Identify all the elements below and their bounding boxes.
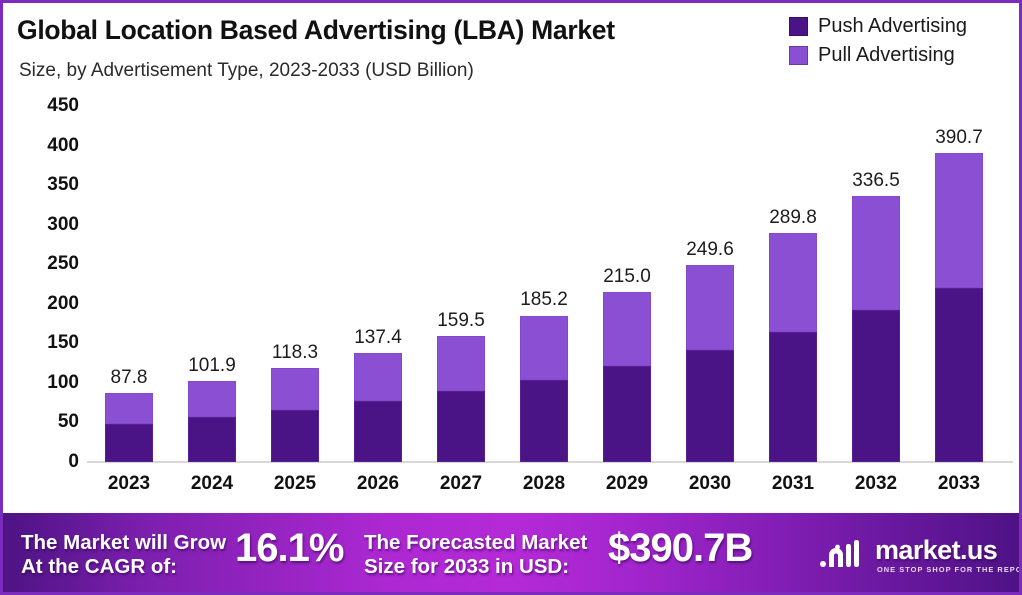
bar-value-label: 87.8 [89,367,169,389]
x-axis-tick: 2028 [504,473,584,495]
bar-segment-pull[interactable] [686,265,734,351]
x-axis-tick: 2031 [753,473,833,495]
page-title: Global Location Based Advertising (LBA) … [17,15,615,46]
x-axis-tick: 2033 [919,473,999,495]
bar-group[interactable] [852,196,900,462]
bar-segment-push[interactable] [520,380,568,462]
bar-segment-push[interactable] [935,288,983,462]
y-axis-tick: 50 [58,411,79,433]
y-axis-tick: 0 [68,451,79,473]
bar-segment-push[interactable] [354,401,402,462]
bar-segment-pull[interactable] [520,316,568,380]
bar-segment-pull[interactable] [852,196,900,310]
forecast-label-line1: The Forecasted Market [364,531,587,554]
logo-name: market.us [875,535,997,566]
x-axis-tick: 2032 [836,473,916,495]
y-axis-tick: 350 [47,174,79,196]
y-axis-tick: 250 [47,253,79,275]
bar-segment-push[interactable] [686,350,734,462]
x-axis-tick: 2025 [255,473,335,495]
bar-group[interactable] [188,381,236,462]
bar-segment-push[interactable] [852,310,900,462]
bar-group[interactable] [935,153,983,462]
bar-value-label: 118.3 [255,342,335,364]
y-axis-tick: 150 [47,332,79,354]
x-axis-tick: 2030 [670,473,750,495]
x-axis-tick: 2029 [587,473,667,495]
bar-segment-pull[interactable] [769,233,817,332]
x-axis-tick: 2026 [338,473,418,495]
forecast-label: The Forecasted Market Size for 2033 in U… [364,531,587,579]
bar-value-label: 137.4 [338,327,418,349]
brand-logo[interactable]: market.us ONE STOP SHOP FOR THE REPORTS [819,535,1009,579]
x-axis-tick: 2027 [421,473,501,495]
legend-item-pull: Pull Advertising [789,44,967,67]
cagr-label-line2: At the CAGR of: [21,555,177,578]
chart-legend: Push Advertising Pull Advertising [789,15,967,73]
x-axis-tick: 2023 [89,473,169,495]
bar-segment-push[interactable] [437,391,485,462]
bar-value-label: 215.0 [587,266,667,288]
bar-segment-pull[interactable] [271,368,319,410]
bar-group[interactable] [603,292,651,462]
bar-segment-push[interactable] [271,410,319,462]
legend-swatch-pull [789,46,808,65]
forecast-value: $390.7B [608,525,752,572]
bar-group[interactable] [437,336,485,462]
plot-area: 87.8101.9118.3137.4159.5185.2215.0249.62… [92,106,1005,462]
bar-segment-pull[interactable] [105,393,153,424]
bar-segment-push[interactable] [105,424,153,462]
cagr-label: The Market will Grow At the CAGR of: [21,531,226,579]
market-us-mark-icon [819,537,867,571]
forecast-label-line2: Size for 2033 in USD: [364,555,569,578]
bar-value-label: 390.7 [919,127,999,149]
bar-group[interactable] [354,353,402,462]
legend-swatch-push [789,17,808,36]
y-axis-tick: 300 [47,214,79,236]
bar-group[interactable] [769,233,817,462]
bar-segment-pull[interactable] [188,381,236,417]
y-axis-tick: 200 [47,293,79,315]
bar-segment-push[interactable] [603,366,651,462]
bar-segment-push[interactable] [769,332,817,462]
cagr-label-line1: The Market will Grow [21,531,226,554]
bar-group[interactable] [105,393,153,462]
y-axis-tick: 450 [47,95,79,117]
legend-label-push: Push Advertising [818,15,967,38]
summary-banner: The Market will Grow At the CAGR of: 16.… [3,513,1019,592]
legend-item-push: Push Advertising [789,15,967,38]
logo-tagline: ONE STOP SHOP FOR THE REPORTS [877,565,1019,574]
y-axis-tick: 400 [47,135,79,157]
bar-segment-pull[interactable] [935,153,983,288]
bar-value-label: 289.8 [753,207,833,229]
bar-value-label: 101.9 [172,355,252,377]
bar-group[interactable] [271,368,319,462]
bar-value-label: 159.5 [421,310,501,332]
bar-value-label: 185.2 [504,289,584,311]
bar-segment-pull[interactable] [437,336,485,392]
x-axis-tick: 2024 [172,473,252,495]
cagr-value: 16.1% [235,525,343,572]
legend-label-pull: Pull Advertising [818,44,955,67]
y-axis-tick: 100 [47,372,79,394]
page-subtitle: Size, by Advertisement Type, 2023-2033 (… [19,60,474,82]
chart-infographic: Global Location Based Advertising (LBA) … [0,0,1022,595]
y-axis: 050100150200250300350400450 [3,106,87,466]
bar-value-label: 249.6 [670,239,750,261]
bar-group[interactable] [520,316,568,463]
bar-segment-pull[interactable] [603,292,651,366]
bar-segment-pull[interactable] [354,353,402,401]
bar-value-label: 336.5 [836,170,916,192]
bar-group[interactable] [686,265,734,462]
bar-segment-push[interactable] [188,417,236,462]
